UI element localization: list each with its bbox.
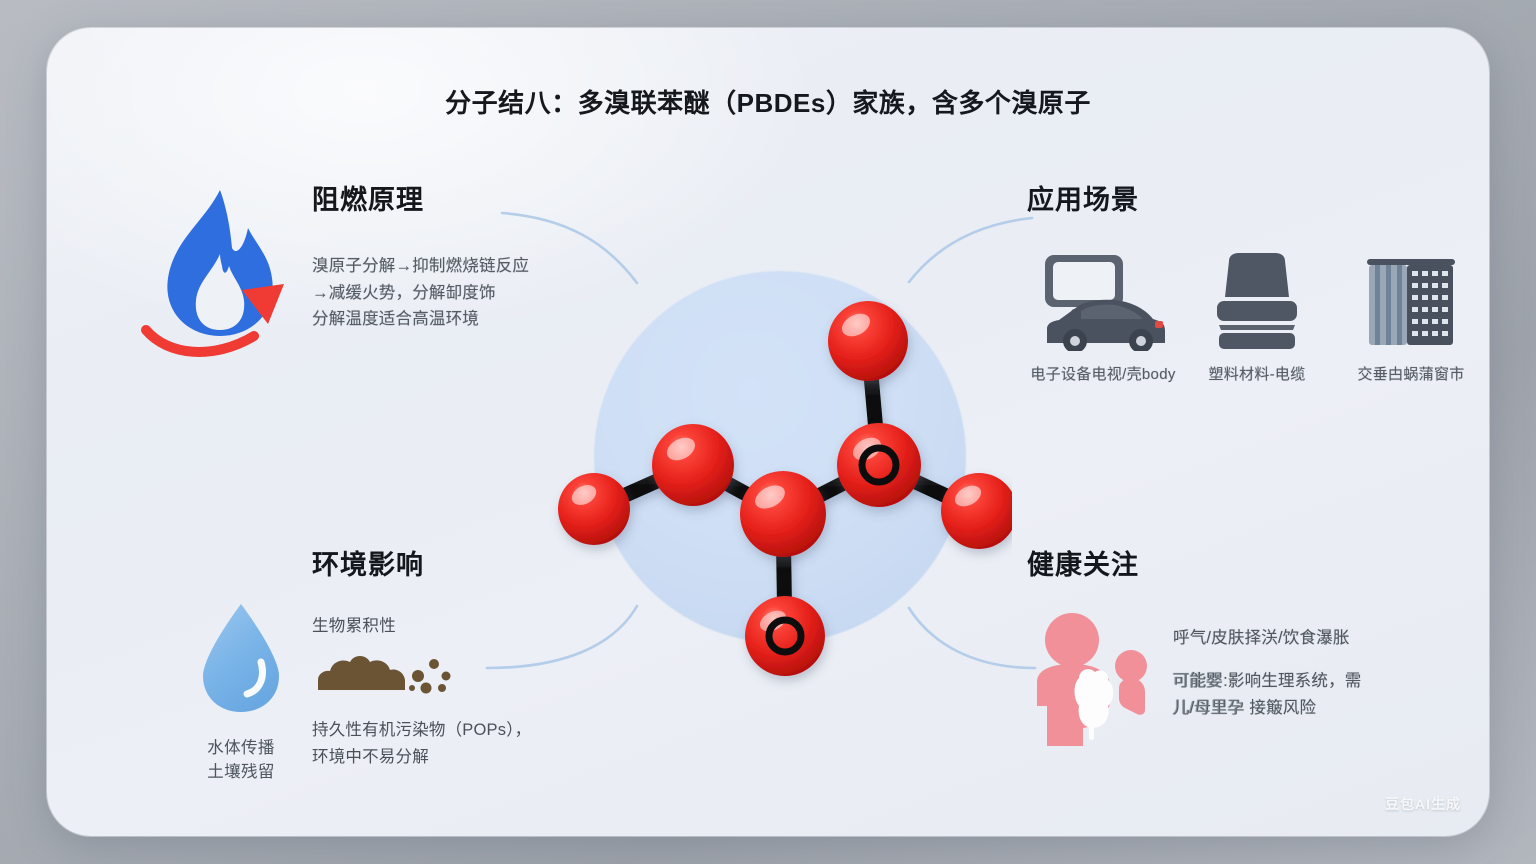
health-texts: 呼气/皮肤择浂/饮食瀑胀 可能婴:影响生理系统，需 儿/母里孕 接簸风险 可能婴… — [1173, 606, 1489, 721]
water-label: 水体传播 土壤残留 — [167, 737, 315, 785]
atom-far-left — [558, 473, 630, 545]
flame-body-line-1: 溴原子分解→抑制燃烧链反应 — [312, 253, 622, 280]
env-body: 持久性有机污染物（POPs）， 环境中不易分解 — [312, 717, 642, 770]
atom-upper-left — [652, 424, 734, 506]
water-drop-icon-group: 水体传播 土壤残留 — [167, 600, 315, 785]
health-risk-line-1: 可能婴:影响生理系统，需 — [1173, 668, 1489, 695]
page-title: 分子结八：多溴联苯醚（PBDEs）家族，含多个溴原子 — [47, 83, 1489, 120]
section-environment-impact: 环境影响 生物累积性 持久性有机污染物（POPs）， 环境中不易分解 — [312, 543, 642, 770]
app-item-building: 交垂甴蜗蒲窗市 — [1335, 239, 1487, 384]
app-label-plastics: 塑料材料-电缆 — [1181, 363, 1333, 384]
tv-and-car-icon — [1027, 239, 1179, 351]
env-heading: 环境影响 — [312, 543, 642, 582]
parent-holding-baby-icon — [1027, 606, 1157, 755]
apps-row: 电子设备电视/壳body 塑料材料-电缆 — [1027, 239, 1489, 384]
health-risk-lines: 可能婴:影响生理系统，需 儿/母里孕 接簸风险 可能婴 儿/母里孕 — [1173, 668, 1489, 721]
app-label-electronics: 电子设备电视/壳body — [1027, 363, 1179, 384]
watermark: 豆包AI生成 — [1385, 794, 1461, 814]
app-label-building: 交垂甴蜗蒲窗市 — [1335, 363, 1487, 384]
water-label-line-1: 水体传播 — [167, 737, 315, 761]
apps-heading: 应用场景 — [1027, 178, 1489, 217]
flame-body-line-2: →减缓火势，分解缷度饰 — [312, 280, 622, 307]
atom-top — [828, 301, 908, 381]
env-body-line-2: 环境中不易分解 — [312, 744, 642, 771]
water-label-line-2: 土壤残留 — [167, 761, 315, 785]
water-drop-shape — [203, 604, 279, 712]
soil-mound-icon — [312, 650, 642, 699]
office-chair-icon — [1181, 239, 1333, 351]
section-application-scenarios: 应用场景 — [1027, 178, 1489, 384]
health-row: 呼气/皮肤择浂/饮食瀑胀 可能婴:影响生理系统，需 儿/母里孕 接簸风险 可能婴… — [1027, 606, 1489, 755]
flame-body-line-3: 分解温度适合高温环境 — [312, 306, 622, 333]
atom-oxygen-right — [837, 423, 921, 507]
env-body-line-1: 持久性有机污染物（POPs）， — [312, 717, 642, 744]
atom-center — [740, 471, 826, 557]
section-flame-retardant: 阻燃原理 溴原子分解→抑制燃烧链反应 →减缓火势，分解缷度饰 分解温度适合高温环… — [312, 178, 622, 333]
health-risk-line-2: 儿/母里孕 接簸风险 — [1173, 695, 1489, 722]
atom-far-right — [941, 473, 1012, 549]
building-facade-icon — [1335, 239, 1487, 351]
flame-heading: 阻燃原理 — [312, 178, 622, 217]
section-health-concern: 健康关注 呼气/皮肤择浂/饮食瀑胀 — [1027, 543, 1489, 755]
app-item-electronics: 电子设备电视/壳body — [1027, 239, 1179, 384]
health-heading: 健康关注 — [1027, 543, 1489, 582]
app-item-plastics: 塑料材料-电缆 — [1181, 239, 1333, 384]
atom-oxygen-bottom — [745, 596, 825, 676]
flame-retardant-icon-group — [132, 178, 307, 363]
health-exposure-line: 呼气/皮肤择浂/饮食瀑胀 — [1173, 624, 1489, 648]
env-subtitle: 生物累积性 — [312, 612, 642, 636]
flame-body: 溴原子分解→抑制燃烧链反应 →减缓火势，分解缷度饰 分解温度适合高温环境 — [312, 253, 622, 333]
infographic-card: 分子结八：多溴联苯醚（PBDEs）家族，含多个溴原子 — [47, 28, 1489, 836]
